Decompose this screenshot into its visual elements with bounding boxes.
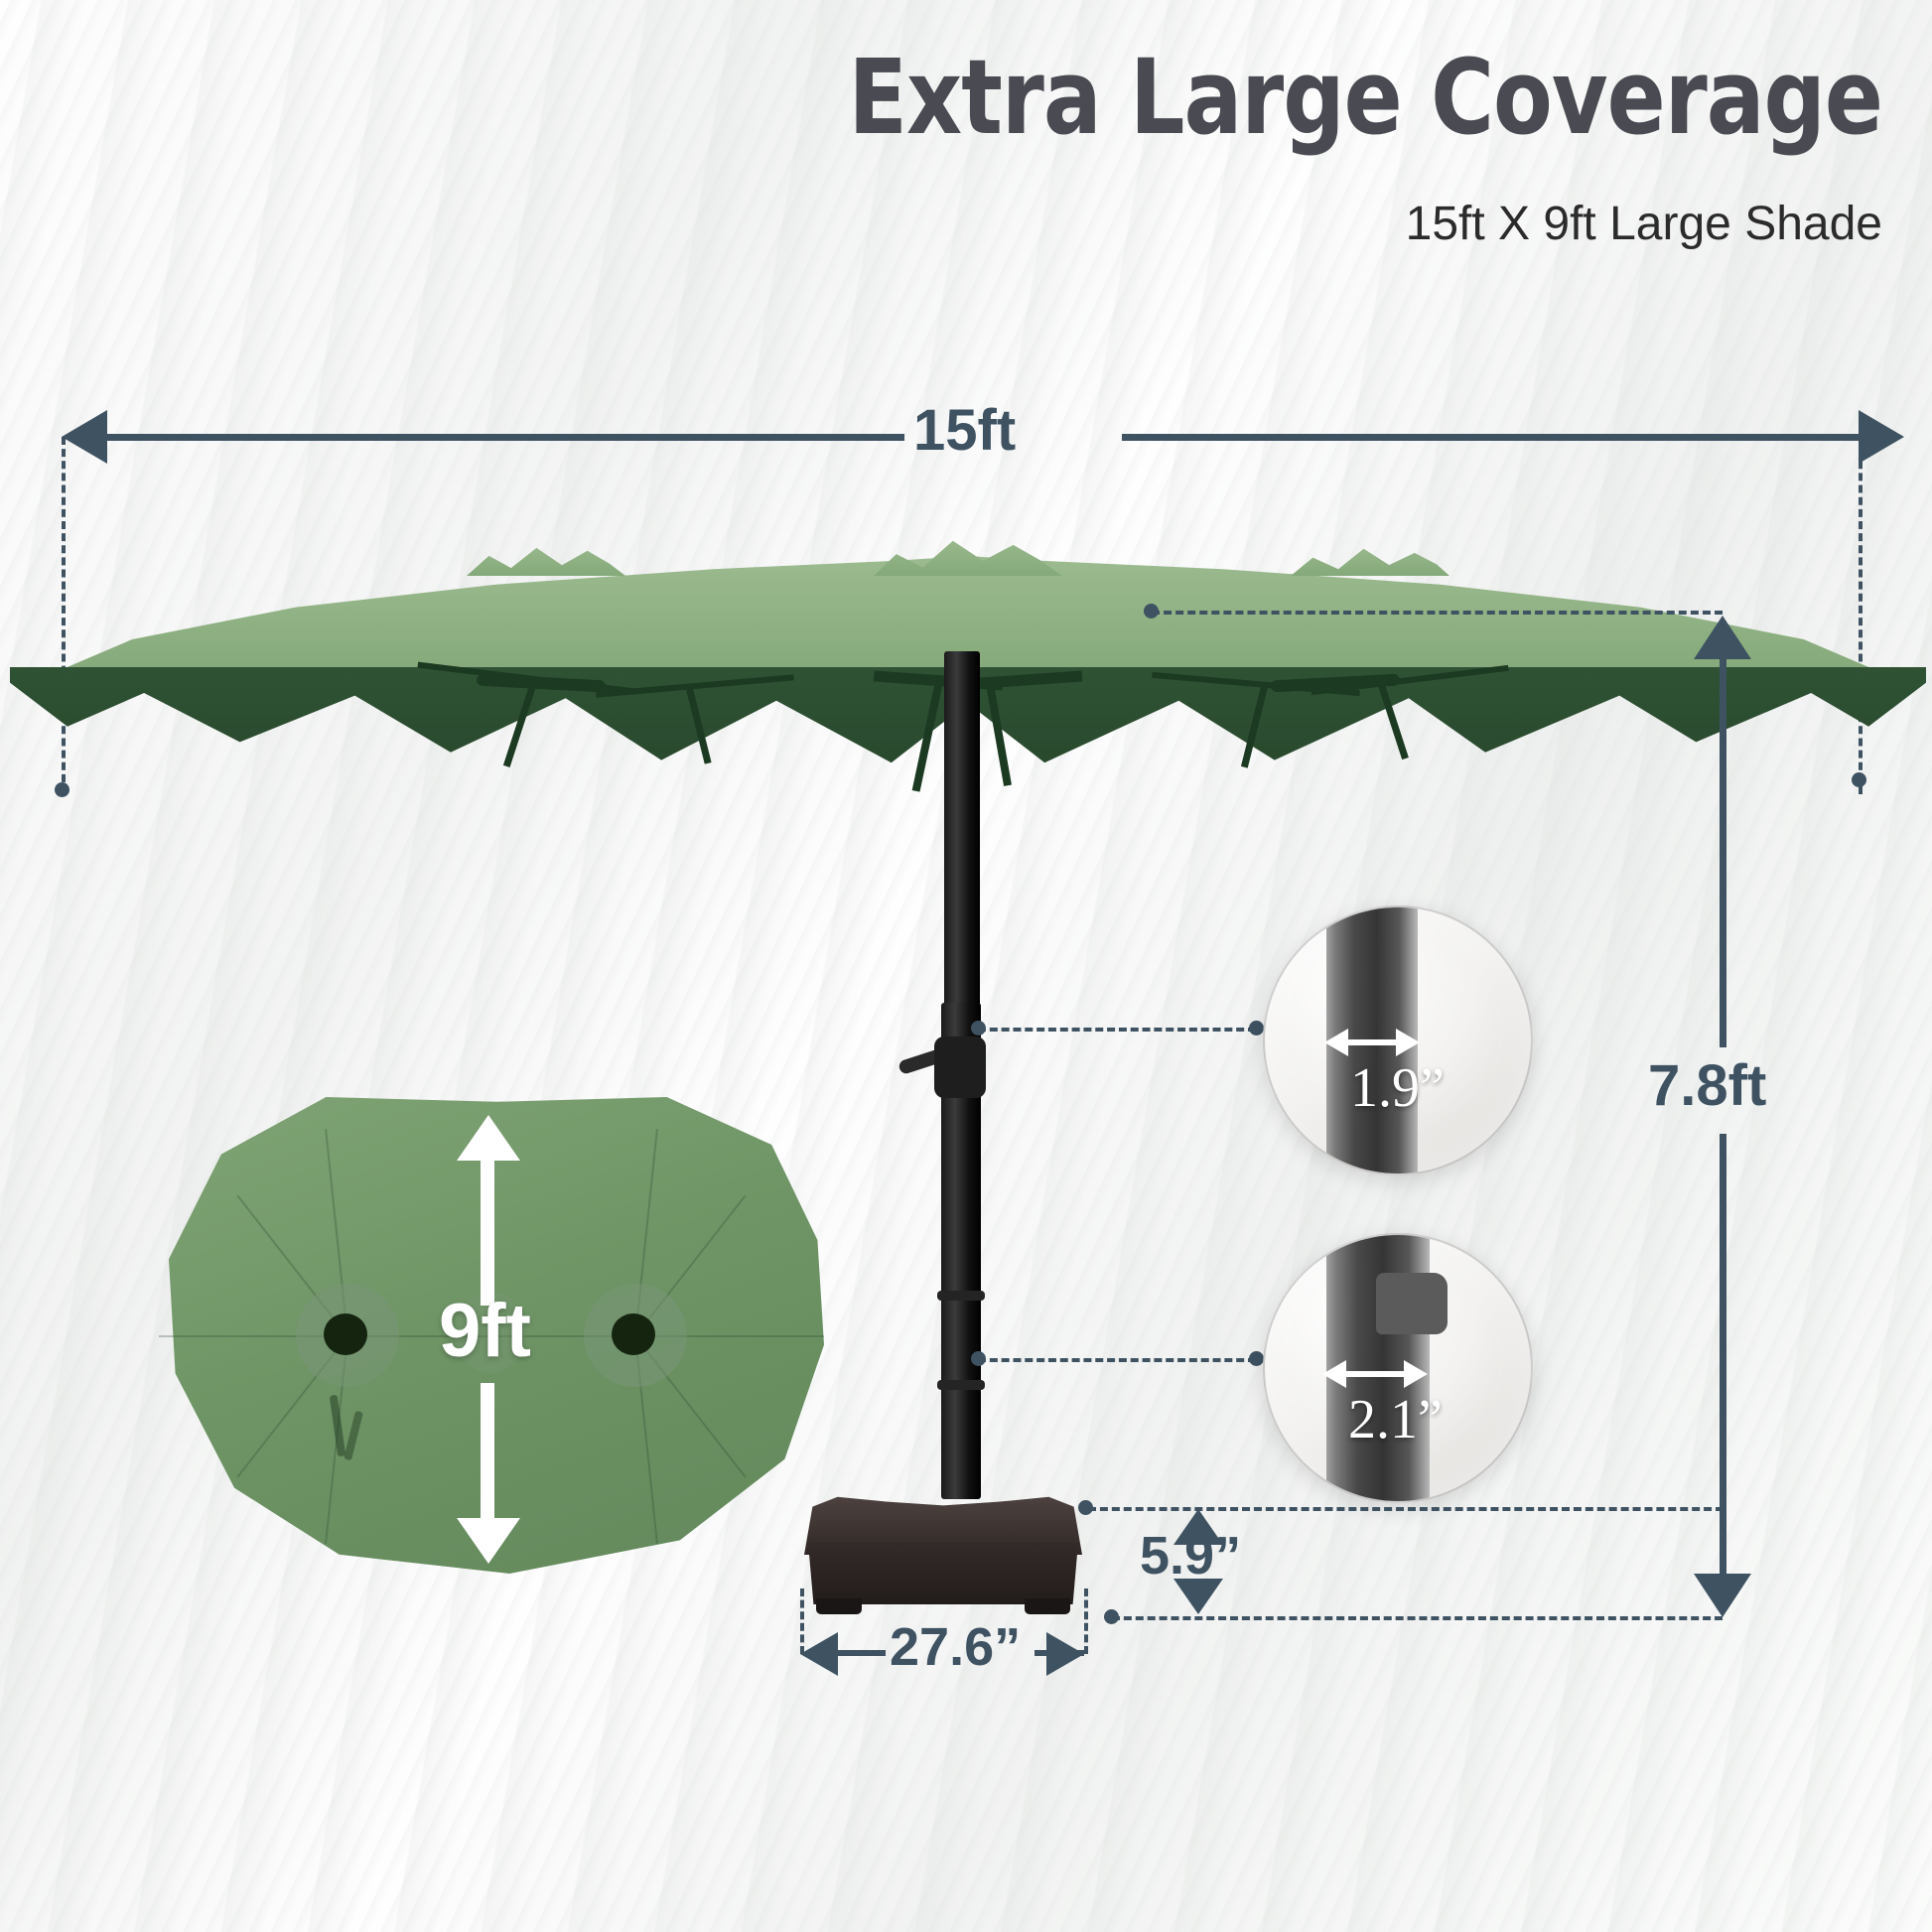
mag-arrowhead-right-1-9 bbox=[1396, 1029, 1420, 1056]
canopy-crest-right bbox=[1291, 542, 1449, 576]
callout-line-upper-pole bbox=[978, 1028, 1256, 1032]
guide-base-right-vertical bbox=[1084, 1588, 1088, 1654]
arrowhead-down-9ft bbox=[457, 1518, 520, 1564]
arrowhead-left-15ft bbox=[62, 410, 107, 464]
magnifier-upper-pole: 1.9” bbox=[1263, 905, 1533, 1175]
dimension-label-9ft: 9ft bbox=[439, 1288, 531, 1374]
canopy-crest-center bbox=[874, 534, 1062, 576]
base-foot-right bbox=[1025, 1598, 1070, 1614]
guide-dot-canopy-top bbox=[1144, 604, 1159, 619]
callout-dot-lower-pole-end bbox=[1249, 1351, 1264, 1366]
dimension-label-7-8ft: 7.8ft bbox=[1648, 1052, 1766, 1119]
measure-line-7-8ft-upper bbox=[1720, 655, 1726, 1047]
callout-dot-upper-pole-start bbox=[971, 1021, 986, 1035]
guide-base-bottom-horizontal bbox=[1112, 1616, 1723, 1620]
topdown-umbrella-illustration: 9ft bbox=[169, 1097, 824, 1574]
pole-joint-ring bbox=[937, 1380, 985, 1390]
base-body bbox=[808, 1543, 1078, 1604]
arrowhead-left-27-6in bbox=[800, 1632, 838, 1676]
callout-dot-lower-pole-start bbox=[971, 1351, 986, 1366]
callout-dot-upper-pole-end bbox=[1249, 1021, 1264, 1035]
guide-dot-base-top bbox=[1078, 1500, 1093, 1515]
umbrella-pole-upper bbox=[944, 651, 980, 1009]
topdown-hole-left bbox=[324, 1313, 367, 1355]
measure-line-9ft-bottom bbox=[481, 1383, 494, 1530]
measure-line-9ft-top bbox=[481, 1155, 494, 1306]
callout-line-lower-pole bbox=[978, 1358, 1256, 1362]
dimension-label-27-6in: 27.6” bbox=[890, 1616, 1021, 1678]
mag-measure-line-2-1 bbox=[1344, 1371, 1406, 1377]
arrowhead-up-7-8ft bbox=[1694, 616, 1751, 659]
magnifier-label-1-9in: 1.9” bbox=[1350, 1056, 1445, 1120]
magnified-crank-knob bbox=[1376, 1273, 1448, 1334]
arrowhead-down-5-9in bbox=[1173, 1579, 1223, 1614]
arrowhead-right-27-6in bbox=[1046, 1632, 1084, 1676]
mag-arrowhead-left-1-9 bbox=[1324, 1029, 1348, 1056]
mag-measure-line-1-9 bbox=[1346, 1039, 1398, 1045]
canopy-crest-left bbox=[467, 540, 625, 576]
magnifier-label-2-1in: 2.1” bbox=[1348, 1388, 1443, 1451]
guide-dot-base-bottom bbox=[1104, 1609, 1119, 1624]
arrowhead-down-7-8ft bbox=[1694, 1574, 1751, 1617]
mag-arrowhead-right-2-1 bbox=[1404, 1360, 1428, 1388]
mag-arrowhead-left-2-1 bbox=[1322, 1360, 1346, 1388]
base-foot-left bbox=[816, 1598, 862, 1614]
page-subtitle: 15ft X 9ft Large Shade bbox=[0, 197, 1882, 251]
pole-joint-ring bbox=[937, 1291, 985, 1301]
measure-line-15ft-right bbox=[1122, 434, 1864, 441]
umbrella-base bbox=[804, 1493, 1082, 1622]
crank-housing bbox=[934, 1036, 986, 1098]
magnifier-lower-pole: 2.1” bbox=[1263, 1233, 1533, 1503]
arrowhead-right-15ft bbox=[1859, 410, 1904, 464]
page-title: Extra Large Coverage bbox=[132, 44, 1882, 152]
dimension-label-15ft: 15ft bbox=[913, 397, 1016, 464]
dimension-label-5-9in: 5.9” bbox=[1140, 1525, 1241, 1587]
guide-canopy-top-horizontal bbox=[1152, 611, 1723, 615]
infographic-canvas: Extra Large Coverage 15ft X 9ft Large Sh… bbox=[0, 0, 1932, 1932]
topdown-hole-right bbox=[612, 1313, 655, 1355]
measure-line-15ft-left bbox=[105, 434, 904, 441]
measure-line-27-6in-left bbox=[836, 1650, 886, 1656]
